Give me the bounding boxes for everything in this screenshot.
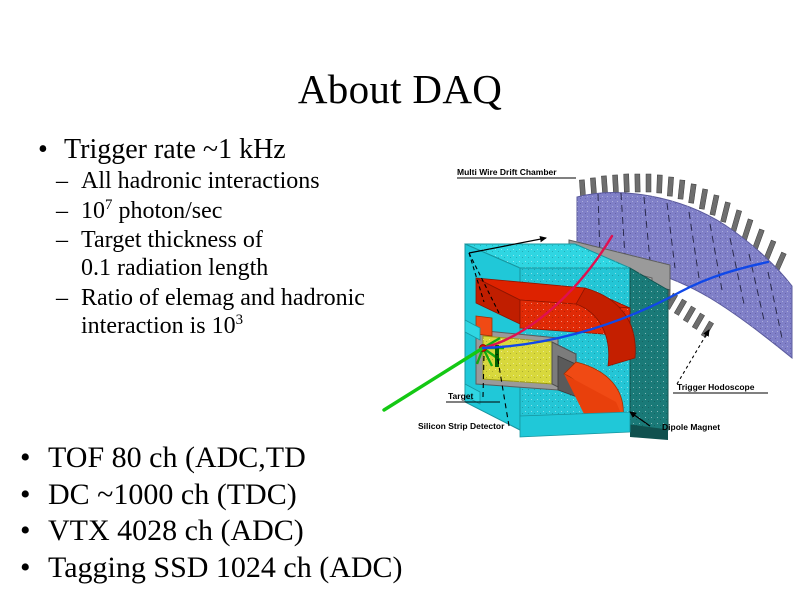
list-item-label: TOF 80 ch (ADC,TD [48,441,306,474]
magnet-bottom-foot [520,412,630,437]
leader-trigger-hodoscope [677,330,709,384]
bullet-dot-icon: • [38,134,48,165]
bullet-dot-icon: • [20,550,31,587]
label-target: Target [448,391,474,401]
sub-list-item-text-pre: 10 [81,198,105,224]
label-multi-wire-drift-chamber: Multi Wire Drift Chamber [457,167,557,177]
label-dipole-magnet: Dipole Magnet [662,422,720,432]
list-item-label: Trigger rate ~1 kHz [64,134,286,165]
bullet-dash-icon: – [56,284,68,312]
label-trigger-hodoscope: Trigger Hodoscope [677,382,755,392]
bullet-dot-icon: • [20,440,31,477]
bullet-dash-icon: – [56,226,68,254]
bullet-dash-icon: – [56,197,68,225]
slide-canvas: About DAQ • Trigger rate ~1 kHz – All ha… [0,0,800,600]
bullet-dash-icon: – [56,167,68,195]
sub-list-item-text-pre: interaction is 10 [81,313,236,339]
detector-diagram-svg: Multi Wire Drift Chamber Target Silicon … [380,140,800,440]
exponent-superscript: 3 [236,312,243,328]
list-item-label: DC ~1000 ch (TDC) [48,478,297,511]
label-silicon-strip-detector: Silicon Strip Detector [418,421,505,431]
list-item: • TOF 80 ch (ADC,TD [8,440,568,477]
list-item-label: Tagging SSD 1024 ch (ADC) [48,551,403,584]
lower-bullet-list: • TOF 80 ch (ADC,TD • DC ~1000 ch (TDC) … [8,440,568,586]
list-item: • VTX 4028 ch (ADC) [8,513,568,550]
bullet-dot-icon: • [20,513,31,550]
list-item: • DC ~1000 ch (TDC) [8,477,568,514]
detector-diagram: Multi Wire Drift Chamber Target Silicon … [380,140,800,440]
page-title: About DAQ [0,68,800,111]
bullet-dot-icon: • [20,477,31,514]
list-item: • Tagging SSD 1024 ch (ADC) [8,550,568,587]
sub-list-item-text-post: photon/sec [112,198,222,224]
list-item-label: VTX 4028 ch (ADC) [48,514,304,547]
